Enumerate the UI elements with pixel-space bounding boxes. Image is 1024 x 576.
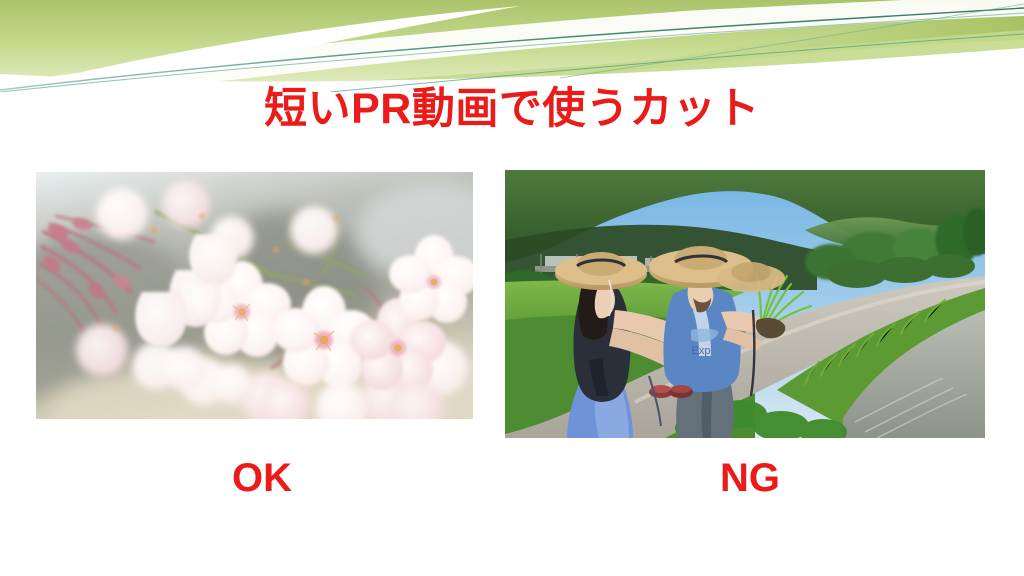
rice-field-visitors-photo: Exp [505, 170, 985, 438]
decorative-green-wave-banner [0, 0, 1024, 92]
svg-text:Exp: Exp [692, 345, 711, 357]
slide-canvas: 短いPR動画で使うカット [0, 0, 1024, 576]
cherry-blossom-closeup-photo [36, 172, 473, 419]
page-title: 短いPR動画で使うカット [0, 85, 1024, 133]
caption-ng: NG [650, 458, 850, 498]
caption-ok: OK [162, 458, 362, 498]
